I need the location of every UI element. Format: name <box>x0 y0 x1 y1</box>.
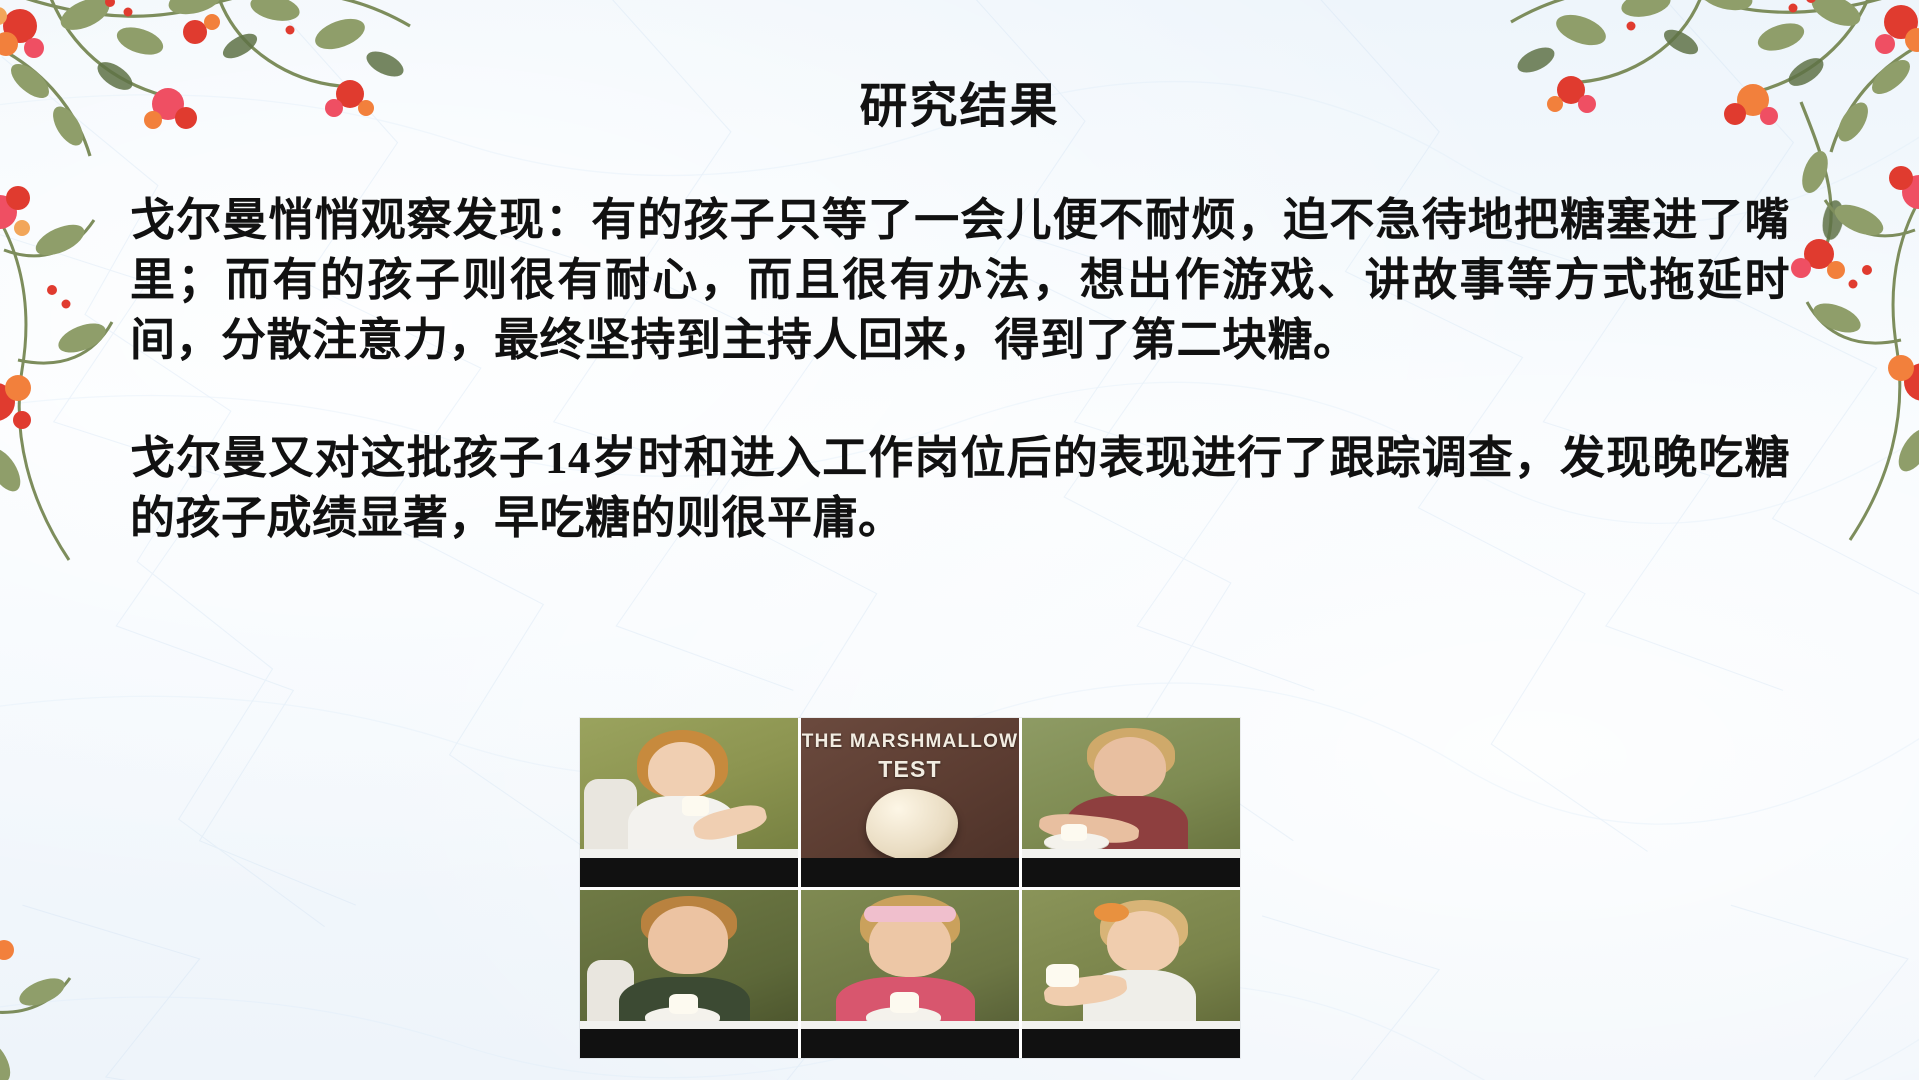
photo-cell-boy-licking <box>580 890 798 1059</box>
floral-decoration-bottom-left <box>0 810 270 1080</box>
paragraph-1: 戈尔曼悄悄观察发现：有的孩子只等了一会儿便不耐烦，迫不急待地把糖塞进了嘴里；而有… <box>130 190 1790 370</box>
photo-caption: THE MARSHMALLOW TEST <box>801 731 1019 783</box>
paragraph-2: 戈尔曼又对这批孩子14岁时和进入工作岗位后的表现进行了跟踪调查，发现晚吃糖的孩子… <box>130 428 1790 548</box>
photo-cell-girl-headband <box>801 890 1019 1059</box>
photo-cell-girl-holding <box>1022 890 1240 1059</box>
presentation-slide: 研究结果 戈尔曼悄悄观察发现：有的孩子只等了一会儿便不耐烦，迫不急待地把糖塞进了… <box>0 0 1919 1080</box>
slide-body: 戈尔曼悄悄观察发现：有的孩子只等了一会儿便不耐烦，迫不急待地把糖塞进了嘴里；而有… <box>130 190 1790 548</box>
photo-caption-line-2: TEST <box>801 756 1019 783</box>
marshmallow-test-photo-grid: THE MARSHMALLOW TEST <box>580 718 1240 1058</box>
photo-cell-boy-reaching <box>1022 718 1240 887</box>
photo-caption-line-1: THE MARSHMALLOW <box>801 731 1019 753</box>
photo-cell-title-card: THE MARSHMALLOW TEST <box>801 718 1019 887</box>
slide-title: 研究结果 <box>0 66 1919 136</box>
photo-cell-girl-eating <box>580 718 798 887</box>
marshmallow-shape <box>866 789 958 860</box>
